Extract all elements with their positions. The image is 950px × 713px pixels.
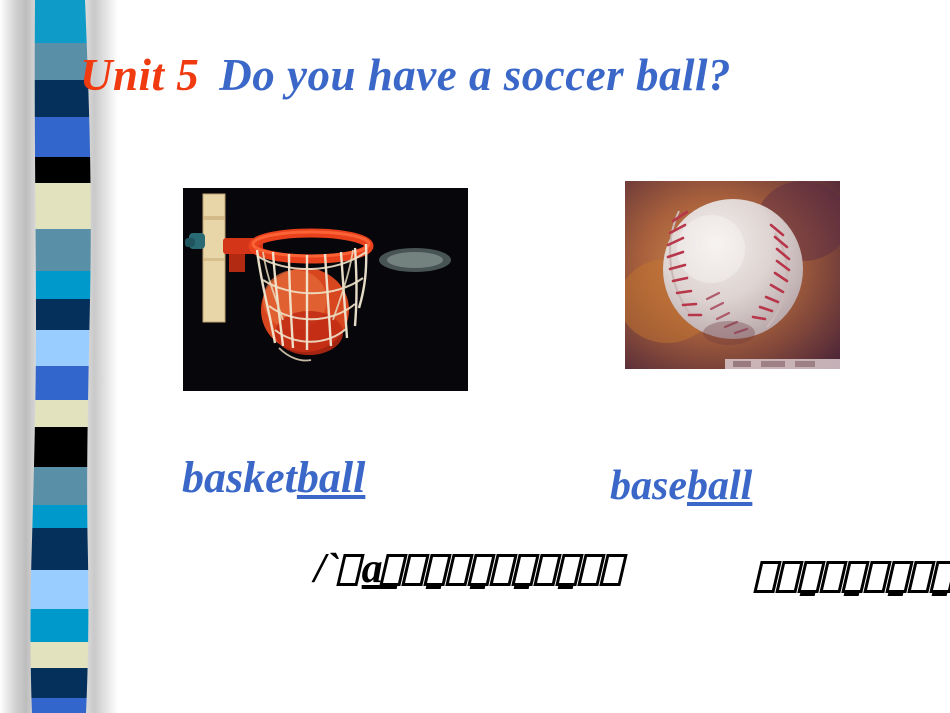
- baseball-photo: [625, 181, 840, 369]
- basketball-photo: [183, 188, 468, 391]
- striped-band-graphic: [0, 0, 118, 713]
- baseball-illustration: [625, 181, 840, 369]
- word-label-basketball: basketball: [182, 452, 365, 503]
- phonetic-basketball: /`a: [314, 545, 625, 593]
- stripe-group: [0, 0, 118, 713]
- word-stem-basket: basket: [182, 453, 297, 502]
- word-suffix-ball: ball: [687, 463, 752, 509]
- phonetic-baseball: [757, 552, 950, 600]
- title-unit-label: Unit 5: [80, 50, 199, 100]
- missing-glyph-box: [336, 554, 364, 586]
- slide-decoration: [0, 0, 118, 713]
- title-question-text: Do you have a soccer ball?: [219, 50, 731, 100]
- word-suffix-ball: ball: [297, 453, 365, 502]
- word-stem-base: base: [610, 463, 687, 509]
- phonetic-stressed-group: a: [340, 546, 383, 592]
- basketball-hoop-illustration: [183, 188, 468, 391]
- word-label-baseball: baseball: [610, 462, 752, 510]
- page-title: Unit 5Do you have a soccer ball?: [80, 45, 950, 105]
